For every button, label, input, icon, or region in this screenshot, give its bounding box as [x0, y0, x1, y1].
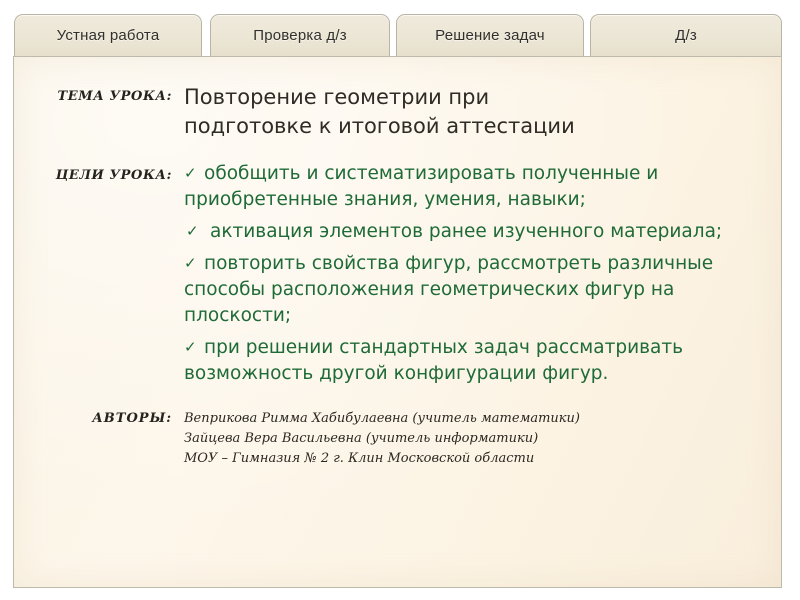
- tab-problem-solving[interactable]: Решение задач: [396, 14, 584, 56]
- checkmark-icon: ✓: [184, 162, 200, 185]
- tab-homework-check[interactable]: Проверка д/з: [210, 14, 390, 56]
- goals-label: ЦЕЛИ УРОКА:: [32, 161, 184, 183]
- goal-text: обобщить и систематизировать полученные …: [184, 163, 658, 210]
- author-line: Веприкова Римма Хабибулаевна (учитель ма…: [184, 409, 763, 429]
- goal-text: при решении стандартных задач рассматрив…: [184, 337, 683, 384]
- tab-label: Д/з: [675, 27, 697, 44]
- authors-row: АВТОРЫ: Веприкова Римма Хабибулаевна (уч…: [32, 409, 763, 469]
- topic-label: ТЕМА УРОКА:: [32, 83, 184, 104]
- tab-label: Проверка д/з: [253, 27, 347, 44]
- goal-text: активация элементов ранее изученного мат…: [210, 221, 722, 242]
- slide-root: Устная работа Проверка д/з Решение задач…: [0, 0, 800, 600]
- goal-item: ✓повторить свойства фигур, рассмотреть р…: [184, 251, 762, 329]
- goals-row: ЦЕЛИ УРОКА: ✓обобщить и систематизироват…: [32, 161, 763, 394]
- tab-label: Решение задач: [435, 27, 545, 44]
- checkmark-icon: ✓: [184, 252, 200, 275]
- author-line: Зайцева Вера Васильевна (учитель информа…: [184, 429, 763, 449]
- content-panel: ТЕМА УРОКА: Повторение геометрии при под…: [13, 56, 782, 588]
- topic-line-1: Повторение геометрии при: [184, 83, 614, 112]
- content-rows: ТЕМА УРОКА: Повторение геометрии при под…: [14, 57, 781, 587]
- tab-bar: Устная работа Проверка д/з Решение задач…: [0, 14, 800, 57]
- goal-item: ✓активация элементов ранее изученного ма…: [184, 219, 762, 245]
- tab-homework[interactable]: Д/з: [590, 14, 782, 56]
- topic-line-2: подготовке к итоговой аттестации: [184, 112, 614, 141]
- tab-label: Устная работа: [57, 27, 160, 44]
- goal-text: повторить свойства фигур, рассмотреть ра…: [184, 253, 713, 326]
- topic-text: Повторение геометрии при подготовке к ит…: [184, 83, 614, 141]
- checkmark-icon: ✓: [184, 336, 200, 359]
- checkmark-icon: ✓: [186, 220, 202, 243]
- goal-item: ✓обобщить и систематизировать полученные…: [184, 161, 762, 213]
- authors-label: АВТОРЫ:: [32, 409, 184, 426]
- goal-item: ✓при решении стандартных задач рассматри…: [184, 335, 762, 387]
- tab-oral-work[interactable]: Устная работа: [14, 14, 202, 56]
- goals-list: ✓обобщить и систематизировать полученные…: [184, 161, 762, 394]
- topic-row: ТЕМА УРОКА: Повторение геометрии при под…: [32, 83, 763, 141]
- authors-list: Веприкова Римма Хабибулаевна (учитель ма…: [184, 409, 763, 469]
- author-line: МОУ – Гимназия № 2 г. Клин Московской об…: [184, 449, 763, 469]
